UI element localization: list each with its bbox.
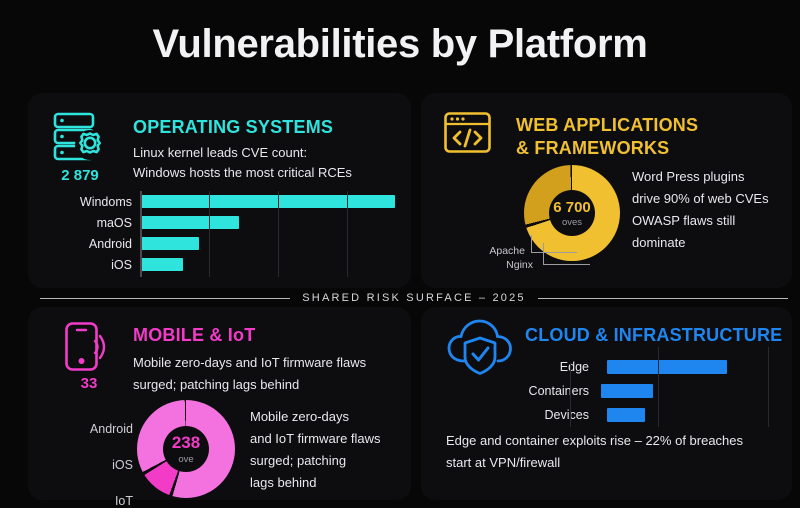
cloud-shield-check-icon: [447, 317, 519, 382]
donut-center: 6 700 oves: [549, 190, 595, 236]
page-title: Vulnerabilities by Platform: [0, 22, 800, 67]
bar-label: Devices: [521, 408, 597, 422]
mobile-donut-legend: Android iOS IoT: [48, 411, 133, 508]
mobile-heading: MOBILE & IoT: [133, 325, 255, 345]
phone-signal-icon: [64, 321, 114, 378]
bar-fill: [140, 237, 199, 250]
web-body-line2: drive 90% of web CVEs: [632, 189, 769, 209]
card-operating-systems: 2 879 OPERATING SYSTEMS Linux kernel lea…: [28, 93, 411, 288]
bar-fill: [607, 360, 727, 374]
legend-label-apache: Apache: [461, 245, 525, 257]
bar-label: Windoms: [40, 195, 140, 209]
bar-row: Android: [40, 233, 400, 254]
os-body-line1: Linux kernel leads CVE count:: [133, 143, 307, 163]
mobile-donut-value: 238: [172, 433, 200, 453]
bar-fill: [601, 384, 653, 398]
chart-gridline: [768, 347, 769, 427]
infographic-page: Vulnerabilities by Platform 2 879 OPERAT…: [0, 0, 800, 508]
web-heading-line1: WEB APPLICATIONS: [516, 115, 698, 135]
bar-row: Windoms: [40, 191, 400, 212]
os-heading: OPERATING SYSTEMS: [133, 117, 333, 137]
browser-code-icon: [443, 111, 495, 162]
chart-gridline: [209, 191, 210, 277]
bar-label: Android: [40, 237, 140, 251]
legend-label-nginx: Nginx: [461, 259, 533, 271]
card-mobile-iot: 33 MOBILE & IoT Mobile zero-days and IoT…: [28, 307, 411, 500]
web-body-line1: Word Press plugins: [632, 167, 744, 187]
web-body-line4: dominate: [632, 233, 685, 253]
cloud-heading: CLOUD & INFRASTRUCTURE: [525, 325, 782, 345]
os-metric: 2 879: [45, 167, 115, 184]
bar-label: Edge: [521, 360, 597, 374]
bar-row: Containers: [521, 379, 783, 403]
bar-fill: [140, 258, 183, 271]
mobile-donut-chart: 238 ove: [137, 400, 235, 498]
card-cloud-infrastructure: CLOUD & INFRASTRUCTURE Edge Containers D…: [421, 307, 792, 500]
chart-axis: [140, 191, 142, 277]
donut-center: 238 ove: [163, 426, 209, 472]
os-bar-chart: Windoms maOS Android iOS: [40, 191, 400, 277]
bar-fill: [607, 408, 645, 422]
bar-fill: [140, 195, 395, 208]
bar-label: iOS: [40, 258, 140, 272]
web-donut-sublabel: oves: [562, 217, 582, 228]
divider-label: SHARED RISK SURFACE – 2025: [302, 292, 525, 304]
mobile-side-line3: surged; patching: [250, 451, 346, 471]
bar-label: maOS: [40, 216, 140, 230]
card-web-applications: WEB APPLICATIONS & FRAMEWORKS 6 700 oves…: [421, 93, 792, 288]
chart-gridline: [658, 347, 659, 427]
chart-gridline: [570, 363, 571, 427]
bar-row: Edge: [521, 355, 783, 379]
mobile-side-line2: and IoT firmware flaws: [250, 429, 381, 449]
mobile-body-line2: surged; patching lags behind: [133, 375, 299, 395]
section-divider: SHARED RISK SURFACE – 2025: [40, 289, 788, 307]
cloud-body-line1: Edge and container exploits rise – 22% o…: [446, 431, 743, 451]
web-body-line3: OWASP flaws still: [632, 211, 735, 231]
os-body-line2: Windows hosts the most critical RCEs: [133, 163, 352, 183]
divider-line-left: [40, 298, 290, 299]
web-donut-value: 6 700: [553, 199, 591, 216]
bar-fill: [140, 216, 239, 229]
divider-line-right: [538, 298, 788, 299]
legend-label-iot: IoT: [48, 483, 133, 508]
chart-gridline: [347, 191, 348, 277]
chart-gridline: [278, 191, 279, 277]
bar-row: iOS: [40, 254, 400, 275]
legend-label-ios: iOS: [48, 447, 133, 483]
mobile-side-line1: Mobile zero-days: [250, 407, 349, 427]
bar-label: Containers: [521, 384, 597, 398]
cloud-body-line2: start at VPN/firewall: [446, 453, 560, 473]
legend-label-android: Android: [48, 411, 133, 447]
nginx-leader-line: [543, 243, 590, 265]
mobile-metric: 33: [54, 375, 124, 392]
cloud-bar-chart: Edge Containers Devices: [521, 355, 783, 427]
mobile-side-line4: lags behind: [250, 473, 317, 493]
web-heading-line2: & FRAMEWORKS: [516, 138, 669, 158]
bar-row: maOS: [40, 212, 400, 233]
bar-row: Devices: [521, 403, 783, 427]
mobile-donut-sublabel: ove: [178, 454, 193, 465]
server-gear-icon: [52, 111, 108, 168]
mobile-body-line1: Mobile zero-days and IoT firmware flaws: [133, 353, 366, 373]
